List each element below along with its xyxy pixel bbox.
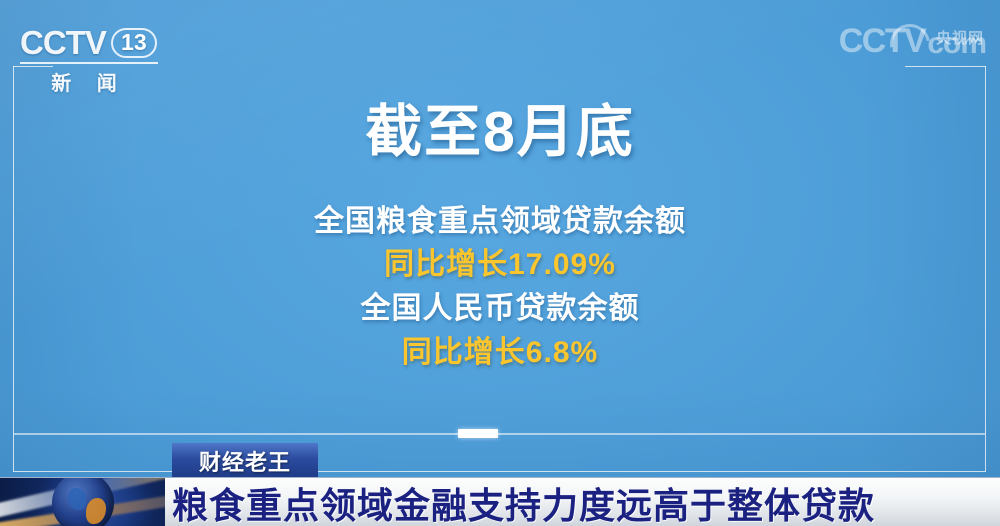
watermark-chinese-label: 央视网 xyxy=(936,27,984,48)
cctv-com-watermark: 央视网 CCTV com xyxy=(839,26,986,57)
lower-third-ticker-bar: 粮食重点领域金融支持力度远高于整体贷款 xyxy=(0,477,1000,526)
stat-line-value-2: 同比增长6.8% xyxy=(0,331,1000,375)
ticker-headline: 粮食重点领域金融支持力度远高于整体贷款 xyxy=(172,478,875,526)
globe-graphic-icon xyxy=(0,478,165,526)
channel-logo-underline xyxy=(20,62,158,64)
stat-line-label-2: 全国人民币贷款余额 xyxy=(0,287,1000,331)
stat-line-label-1: 全国粮食重点领域贷款余额 xyxy=(0,200,1000,244)
broadcast-screen: CCTV 13 新 闻 央视网 CCTV com 截至8月底 全国粮食重点领域贷… xyxy=(0,0,1000,526)
main-text-block: 截至8月底 全国粮食重点领域贷款余额 同比增长17.09% 全国人民币贷款余额 … xyxy=(0,100,1000,375)
progress-rule-knob[interactable] xyxy=(458,429,498,438)
progress-rule xyxy=(14,433,985,435)
program-tag-label: 财经老王 xyxy=(199,445,291,477)
globe-sphere xyxy=(52,478,114,526)
channel-number-badge: 13 xyxy=(111,28,157,58)
page-title: 截至8月底 xyxy=(0,100,1000,166)
globe-landmass-left xyxy=(68,488,86,510)
channel-logo: CCTV 13 新 闻 xyxy=(20,26,158,96)
globe-landmass-right xyxy=(86,498,106,524)
cctv-wordmark: CCTV xyxy=(20,26,106,59)
program-tag-badge: 财经老王 xyxy=(172,443,318,478)
frame-top-right-segment xyxy=(905,66,986,67)
channel-logo-row: CCTV 13 xyxy=(20,26,158,59)
stat-line-value-1: 同比增长17.09% xyxy=(0,243,1000,287)
stat-line-list: 全国粮食重点领域贷款余额 同比增长17.09% 全国人民币贷款余额 同比增长6.… xyxy=(0,200,1000,375)
channel-subtitle: 新 闻 xyxy=(20,67,158,96)
